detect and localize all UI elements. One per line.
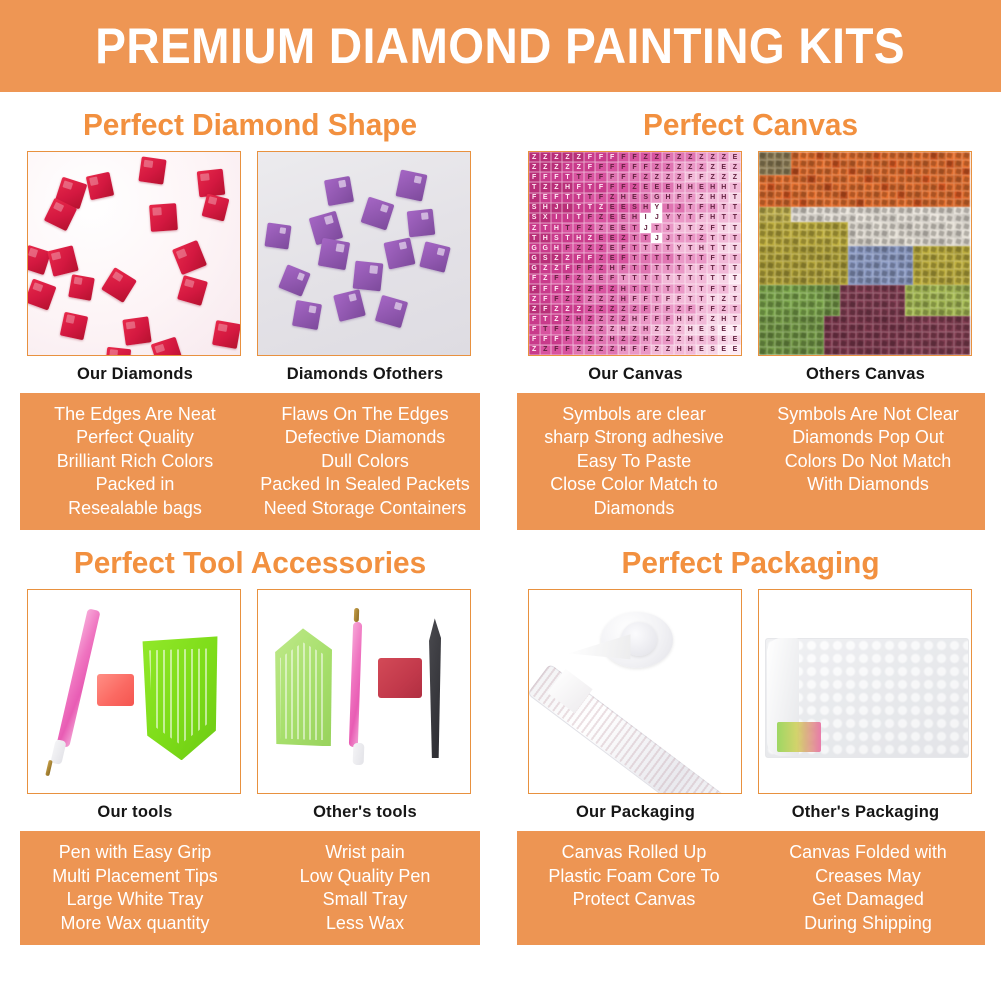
section-row-2: Perfect Tool Accessories — [0, 530, 1001, 945]
canvas-symbol-cell: Z — [729, 162, 740, 172]
canvas-symbol-cell — [856, 207, 864, 215]
canvas-symbol-cell: Z — [607, 294, 618, 304]
canvas-symbol-cell — [759, 152, 767, 160]
canvas-symbol-cell: E — [718, 345, 729, 355]
canvas-symbol-cell — [922, 308, 930, 316]
canvas-symbol-cell: Z — [573, 162, 584, 172]
canvas-symbol-cell: Z — [573, 243, 584, 253]
canvas-symbol-cell — [962, 324, 970, 332]
canvas-symbol-cell — [881, 152, 889, 160]
canvas-symbol-cell: J — [662, 223, 673, 233]
canvas-symbol-cell: Z — [551, 152, 562, 162]
canvas-symbol-cell — [767, 152, 775, 160]
canvas-symbol-cell — [954, 246, 962, 254]
canvas-symbol-cell — [930, 207, 938, 215]
canvas-symbol-cell — [889, 293, 897, 301]
canvas-symbol-cell — [913, 261, 921, 269]
canvas-symbol-cell: Z — [584, 325, 595, 335]
canvas-symbol-cell: F — [618, 243, 629, 253]
canvas-symbol-cell — [938, 293, 946, 301]
canvas-symbol-cell: G — [540, 243, 551, 253]
canvas-symbol-cell — [799, 254, 807, 262]
canvas-symbol-cell — [840, 277, 848, 285]
canvas-symbol-cell — [873, 347, 881, 355]
photo-cell-our-packaging: Our Packaging — [528, 589, 744, 828]
canvas-symbol-cell: J — [551, 203, 562, 213]
canvas-symbol-cell: E — [607, 223, 618, 233]
canvas-symbol-cell: F — [662, 314, 673, 324]
caption-our-tools: Our tools — [27, 794, 243, 828]
canvas-symbol-cell — [864, 316, 872, 324]
canvas-symbol-cell — [848, 207, 856, 215]
symbol-canvas-grid: ZZZZZFFFFFZZFZZZZZEZZZZZFFFFFFZZZZZZEZFF… — [529, 152, 741, 355]
canvas-symbol-cell: F — [696, 203, 707, 213]
canvas-symbol-cell: H — [707, 213, 718, 223]
canvas-symbol-cell — [930, 175, 938, 183]
canvas-symbol-cell — [889, 183, 897, 191]
canvas-symbol-cell: E — [718, 162, 729, 172]
canvas-symbol-cell: Z — [607, 345, 618, 355]
canvas-symbol-cell — [848, 308, 856, 316]
canvas-symbol-cell — [889, 339, 897, 347]
canvas-symbol-cell — [767, 191, 775, 199]
canvas-symbol-cell — [840, 238, 848, 246]
infographic-page: PREMIUM DIAMOND PAINTING KITS Perfect Di… — [0, 0, 1001, 1001]
canvas-symbol-cell: Z — [540, 274, 551, 284]
canvas-symbol-cell: Z — [662, 162, 673, 172]
canvas-symbol-cell: F — [685, 304, 696, 314]
canvas-symbol-cell — [922, 160, 930, 168]
canvas-symbol-cell — [913, 214, 921, 222]
diamond-drill — [86, 172, 114, 200]
canvas-symbol-cell: F — [540, 304, 551, 314]
canvas-symbol-cell — [856, 199, 864, 207]
canvas-symbol-cell — [954, 293, 962, 301]
canvas-symbol-cell: F — [651, 314, 662, 324]
canvas-symbol-cell: H — [629, 314, 640, 324]
canvas-symbol-cell: Z — [640, 172, 651, 182]
canvas-symbol-cell — [791, 152, 799, 160]
canvas-symbol-cell — [873, 332, 881, 340]
canvas-symbol-cell — [889, 316, 897, 324]
canvas-symbol-cell: Z — [685, 152, 696, 162]
canvas-symbol-cell: F — [674, 294, 685, 304]
canvas-symbol-cell: T — [662, 274, 673, 284]
canvas-symbol-cell — [840, 222, 848, 230]
canvas-symbol-cell — [922, 168, 930, 176]
canvas-symbol-cell — [905, 191, 913, 199]
canvas-symbol-cell — [807, 175, 815, 183]
canvas-symbol-cell: T — [640, 264, 651, 274]
canvas-symbol-cell — [962, 222, 970, 230]
canvas-symbol-cell — [897, 277, 905, 285]
canvas-symbol-cell — [913, 152, 921, 160]
canvas-symbol-cell — [864, 246, 872, 254]
canvas-symbol-cell: T — [640, 233, 651, 243]
diamond-drill — [395, 169, 427, 201]
canvas-symbol-cell — [881, 316, 889, 324]
canvas-symbol-cell — [767, 160, 775, 168]
canvas-symbol-cell: Z — [674, 172, 685, 182]
canvas-symbol-cell — [775, 261, 783, 269]
canvas-symbol-cell — [864, 339, 872, 347]
canvas-symbol-cell — [913, 183, 921, 191]
canvas-symbol-cell — [930, 285, 938, 293]
canvas-symbol-cell: S — [529, 213, 540, 223]
canvas-symbol-cell — [824, 222, 832, 230]
canvas-symbol-cell — [946, 254, 954, 262]
canvas-symbol-cell — [905, 277, 913, 285]
canvas-symbol-cell — [913, 277, 921, 285]
canvas-symbol-cell: Z — [674, 304, 685, 314]
section-title-diamond-shape: Perfect Diamond Shape — [10, 92, 490, 151]
canvas-symbol-cell — [759, 222, 767, 230]
canvas-symbol-cell — [954, 238, 962, 246]
canvas-symbol-cell — [922, 300, 930, 308]
canvas-symbol-cell — [930, 160, 938, 168]
canvas-symbol-cell — [791, 293, 799, 301]
canvas-symbol-cell — [864, 261, 872, 269]
canvas-symbol-cell: F — [696, 213, 707, 223]
canvas-symbol-cell: E — [718, 325, 729, 335]
caption-our-packaging: Our Packaging — [528, 794, 744, 828]
canvas-symbol-cell — [889, 168, 897, 176]
canvas-symbol-cell — [816, 269, 824, 277]
canvas-symbol-cell — [897, 230, 905, 238]
canvas-symbol-cell — [946, 308, 954, 316]
canvas-symbol-cell — [954, 269, 962, 277]
canvas-symbol-cell: E — [607, 253, 618, 263]
canvas-symbol-cell — [816, 300, 824, 308]
canvas-symbol-cell — [897, 293, 905, 301]
canvas-symbol-cell — [962, 214, 970, 222]
panel-line: Symbols are clear — [524, 402, 743, 425]
canvas-symbol-cell: F — [595, 182, 606, 192]
canvas-symbol-cell — [873, 230, 881, 238]
page-header: PREMIUM DIAMOND PAINTING KITS — [0, 0, 1001, 92]
canvas-symbol-cell — [922, 285, 930, 293]
canvas-symbol-cell — [946, 300, 954, 308]
canvas-symbol-cell — [832, 261, 840, 269]
section-tool-accessories: Perfect Tool Accessories — [0, 530, 500, 945]
canvas-symbol-cell — [840, 308, 848, 316]
canvas-symbol-cell — [938, 300, 946, 308]
canvas-symbol-cell: F — [607, 182, 618, 192]
canvas-symbol-cell — [897, 222, 905, 230]
canvas-symbol-cell — [832, 316, 840, 324]
canvas-symbol-cell — [832, 254, 840, 262]
photo-cell-our-tools: Our tools — [27, 589, 243, 828]
pen-tip-icon — [353, 743, 365, 765]
canvas-symbol-cell — [783, 207, 791, 215]
canvas-symbol-cell: Z — [696, 162, 707, 172]
canvas-symbol-cell: T — [629, 274, 640, 284]
canvas-symbol-cell: F — [629, 294, 640, 304]
canvas-symbol-cell — [962, 316, 970, 324]
canvas-symbol-cell — [856, 339, 864, 347]
canvas-symbol-cell — [832, 175, 840, 183]
canvas-symbol-cell — [816, 230, 824, 238]
canvas-symbol-cell — [873, 207, 881, 215]
canvas-symbol-cell — [905, 207, 913, 215]
photo-pair-canvas: ZZZZZFFFFFZZFZZZZZEZZZZZFFFFFFZZZZZZEZFF… — [500, 151, 1001, 390]
canvas-symbol-cell: Z — [595, 223, 606, 233]
canvas-symbol-cell — [759, 175, 767, 183]
panel-column-ours: The Edges Are NeatPerfect QualityBrillia… — [23, 402, 246, 519]
canvas-symbol-cell — [930, 339, 938, 347]
canvas-symbol-cell — [930, 324, 938, 332]
canvas-symbol-cell — [938, 175, 946, 183]
canvas-symbol-cell — [759, 324, 767, 332]
canvas-symbol-cell — [873, 152, 881, 160]
canvas-symbol-cell — [930, 214, 938, 222]
canvas-symbol-cell: Z — [573, 152, 584, 162]
canvas-symbol-cell: Z — [707, 162, 718, 172]
canvas-symbol-cell: F — [573, 264, 584, 274]
canvas-symbol-cell: F — [640, 314, 651, 324]
canvas-symbol-cell: Z — [573, 274, 584, 284]
canvas-symbol-cell — [824, 207, 832, 215]
canvas-symbol-cell: S — [640, 193, 651, 203]
canvas-symbol-cell: T — [640, 284, 651, 294]
canvas-symbol-cell: Z — [595, 304, 606, 314]
canvas-symbol-cell: Z — [607, 314, 618, 324]
canvas-symbol-cell — [913, 230, 921, 238]
canvas-symbol-cell — [759, 214, 767, 222]
canvas-symbol-cell — [767, 316, 775, 324]
canvas-symbol-cell: Z — [529, 304, 540, 314]
canvas-symbol-cell: T — [629, 253, 640, 263]
canvas-symbol-cell — [848, 175, 856, 183]
canvas-symbol-cell — [889, 160, 897, 168]
canvas-symbol-cell — [897, 300, 905, 308]
canvas-symbol-cell: Z — [607, 325, 618, 335]
canvas-symbol-cell: T — [651, 264, 662, 274]
canvas-symbol-cell: T — [729, 193, 740, 203]
panel-line: Close Color Match to — [524, 472, 743, 495]
canvas-symbol-cell: Z — [696, 233, 707, 243]
canvas-symbol-cell — [816, 152, 824, 160]
diamond-drill — [353, 261, 384, 292]
canvas-symbol-cell — [832, 222, 840, 230]
canvas-symbol-cell: F — [674, 193, 685, 203]
canvas-symbol-cell: S — [529, 203, 540, 213]
canvas-symbol-cell: T — [729, 314, 740, 324]
canvas-symbol-cell — [873, 214, 881, 222]
canvas-symbol-cell — [775, 238, 783, 246]
canvas-symbol-cell — [783, 261, 791, 269]
canvas-symbol-cell — [816, 175, 824, 183]
canvas-symbol-cell — [856, 254, 864, 262]
canvas-symbol-cell — [840, 300, 848, 308]
compare-panel-tools: Pen with Easy GripMulti Placement TipsLa… — [20, 831, 480, 945]
canvas-symbol-cell: F — [540, 172, 551, 182]
canvas-symbol-cell: T — [629, 243, 640, 253]
canvas-symbol-cell — [759, 293, 767, 301]
canvas-symbol-cell — [938, 183, 946, 191]
canvas-symbol-cell — [954, 300, 962, 308]
diamond-drill — [105, 347, 131, 356]
canvas-symbol-cell: I — [562, 203, 573, 213]
canvas-symbol-cell — [783, 285, 791, 293]
canvas-symbol-cell — [938, 254, 946, 262]
canvas-symbol-cell — [840, 324, 848, 332]
canvas-symbol-cell: S — [707, 335, 718, 345]
canvas-symbol-cell — [922, 214, 930, 222]
canvas-symbol-cell — [759, 339, 767, 347]
canvas-symbol-cell: S — [629, 203, 640, 213]
canvas-symbol-cell: H — [707, 203, 718, 213]
canvas-symbol-cell — [864, 332, 872, 340]
canvas-symbol-cell — [913, 285, 921, 293]
canvas-symbol-cell — [922, 191, 930, 199]
panel-line: Get Damaged — [758, 887, 977, 910]
canvas-symbol-cell — [938, 230, 946, 238]
canvas-symbol-cell — [873, 261, 881, 269]
canvas-symbol-cell: Z — [595, 335, 606, 345]
canvas-symbol-cell — [913, 175, 921, 183]
canvas-symbol-cell — [881, 269, 889, 277]
canvas-symbol-cell — [938, 214, 946, 222]
canvas-symbol-cell — [873, 238, 881, 246]
canvas-symbol-cell — [946, 293, 954, 301]
canvas-symbol-cell — [767, 293, 775, 301]
canvas-symbol-cell — [759, 332, 767, 340]
canvas-symbol-cell — [873, 191, 881, 199]
page-title: PREMIUM DIAMOND PAINTING KITS — [96, 17, 906, 75]
canvas-symbol-cell: T — [718, 203, 729, 213]
canvas-symbol-cell: E — [595, 274, 606, 284]
canvas-symbol-cell — [848, 300, 856, 308]
canvas-symbol-cell: Z — [618, 314, 629, 324]
canvas-symbol-cell — [783, 230, 791, 238]
canvas-symbol-cell — [889, 207, 897, 215]
canvas-symbol-cell — [864, 293, 872, 301]
canvas-symbol-cell: T — [685, 243, 696, 253]
canvas-symbol-cell — [881, 308, 889, 316]
canvas-symbol-cell: H — [685, 182, 696, 192]
canvas-symbol-cell: F — [662, 152, 673, 162]
canvas-symbol-cell — [930, 277, 938, 285]
canvas-symbol-cell: I — [662, 203, 673, 213]
canvas-symbol-cell — [791, 191, 799, 199]
canvas-symbol-cell — [881, 339, 889, 347]
canvas-symbol-cell — [848, 324, 856, 332]
canvas-symbol-cell — [848, 332, 856, 340]
canvas-symbol-cell: T — [529, 233, 540, 243]
canvas-symbol-cell — [767, 230, 775, 238]
canvas-symbol-cell — [897, 207, 905, 215]
canvas-symbol-cell — [791, 277, 799, 285]
canvas-symbol-cell — [775, 269, 783, 277]
canvas-symbol-cell: Z — [584, 294, 595, 304]
canvas-symbol-cell — [848, 152, 856, 160]
panel-column-others: Wrist painLow Quality PenSmall TrayLess … — [253, 840, 476, 934]
canvas-symbol-cell — [783, 332, 791, 340]
canvas-symbol-cell — [848, 160, 856, 168]
canvas-symbol-cell: T — [696, 274, 707, 284]
canvas-symbol-cell — [759, 183, 767, 191]
canvas-symbol-cell — [783, 238, 791, 246]
canvas-symbol-cell — [905, 269, 913, 277]
canvas-symbol-cell — [946, 222, 954, 230]
canvas-symbol-cell: F — [618, 172, 629, 182]
canvas-symbol-cell: H — [573, 233, 584, 243]
canvas-symbol-cell — [824, 293, 832, 301]
compare-panel-packaging: Canvas Rolled UpPlastic Foam Core ToProt… — [517, 831, 985, 945]
canvas-symbol-cell: T — [640, 253, 651, 263]
canvas-symbol-cell: T — [674, 264, 685, 274]
canvas-symbol-cell — [816, 207, 824, 215]
canvas-symbol-cell — [889, 269, 897, 277]
canvas-symbol-cell — [848, 191, 856, 199]
canvas-symbol-cell: Y — [651, 203, 662, 213]
canvas-symbol-cell: Z — [562, 152, 573, 162]
canvas-symbol-cell — [922, 261, 930, 269]
canvas-symbol-cell — [799, 238, 807, 246]
section-row-1: Perfect Diamond Shape Our Diamonds — [0, 92, 1001, 530]
canvas-symbol-cell: T — [640, 243, 651, 253]
canvas-symbol-cell — [832, 324, 840, 332]
canvas-symbol-cell: F — [584, 162, 595, 172]
canvas-symbol-cell: Z — [562, 253, 573, 263]
canvas-symbol-cell — [767, 222, 775, 230]
canvas-symbol-cell — [946, 230, 954, 238]
canvas-symbol-cell — [938, 222, 946, 230]
canvas-symbol-cell — [913, 207, 921, 215]
canvas-symbol-cell: F — [618, 152, 629, 162]
canvas-symbol-cell — [799, 300, 807, 308]
canvas-symbol-cell: H — [640, 325, 651, 335]
canvas-symbol-cell — [856, 285, 864, 293]
canvas-symbol-cell: Z — [573, 325, 584, 335]
canvas-symbol-cell — [938, 277, 946, 285]
canvas-symbol-cell: H — [685, 345, 696, 355]
canvas-symbol-cell — [962, 168, 970, 176]
canvas-symbol-cell — [897, 308, 905, 316]
canvas-symbol-cell: T — [718, 274, 729, 284]
canvas-symbol-cell — [913, 168, 921, 176]
canvas-symbol-cell — [946, 324, 954, 332]
canvas-symbol-cell — [938, 316, 946, 324]
canvas-symbol-cell: T — [562, 172, 573, 182]
panel-line: Plastic Foam Core To — [524, 864, 743, 887]
photo-cell-others-diamonds: Diamonds Ofothers — [257, 151, 473, 390]
canvas-symbol-cell — [848, 214, 856, 222]
canvas-symbol-cell: F — [529, 193, 540, 203]
panel-line: Defective Diamonds — [257, 425, 472, 448]
canvas-symbol-cell — [905, 160, 913, 168]
canvas-symbol-cell: F — [573, 253, 584, 263]
canvas-symbol-cell — [864, 230, 872, 238]
photo-pair-tools: Our tools — [0, 589, 500, 828]
our-packaging-photo — [528, 589, 742, 794]
canvas-symbol-cell — [873, 246, 881, 254]
canvas-symbol-cell: E — [618, 213, 629, 223]
canvas-symbol-cell — [873, 324, 881, 332]
canvas-symbol-cell — [946, 183, 954, 191]
canvas-symbol-cell — [775, 293, 783, 301]
canvas-symbol-cell: F — [629, 345, 640, 355]
canvas-symbol-cell: H — [707, 193, 718, 203]
canvas-symbol-cell: E — [607, 203, 618, 213]
canvas-symbol-cell: Z — [529, 294, 540, 304]
diamond-drill — [324, 176, 354, 206]
canvas-symbol-cell: F — [540, 284, 551, 294]
canvas-symbol-cell — [946, 168, 954, 176]
canvas-symbol-cell: Z — [685, 162, 696, 172]
canvas-symbol-cell: H — [618, 284, 629, 294]
